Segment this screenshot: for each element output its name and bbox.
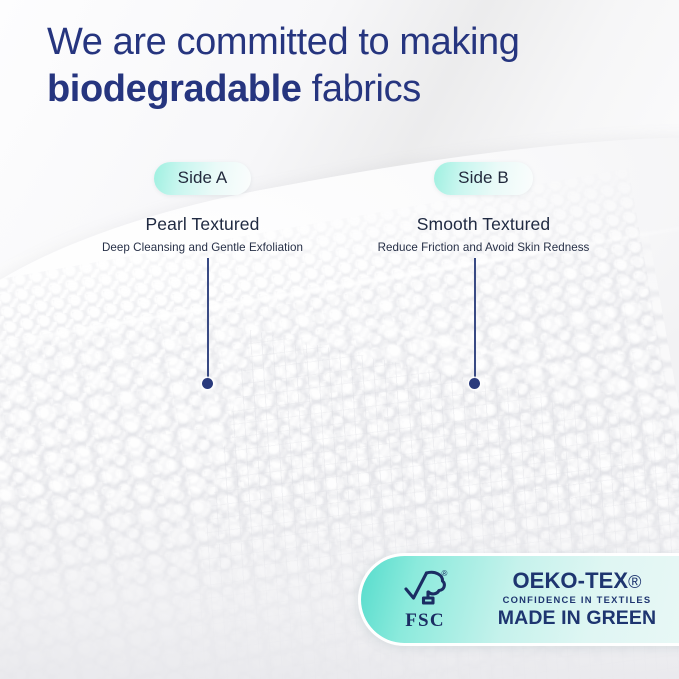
side-a-group: Side A Pearl Textured Deep Cleansing and… <box>61 162 344 254</box>
product-infographic: We are committed to making biodegradable… <box>0 0 679 679</box>
oeko-tex-program: MADE IN GREEN <box>459 607 679 630</box>
oeko-tex-block: OEKO-TEX® CONFIDENCE IN TEXTILES MADE IN… <box>459 569 679 630</box>
fsc-tree-checkmark-icon: ® <box>402 567 448 609</box>
side-a-leader-line <box>207 258 209 382</box>
page-title: We are committed to making biodegradable… <box>47 19 647 113</box>
side-a-callout-dot <box>202 378 213 389</box>
headline-line-2-rest: fabrics <box>302 68 421 110</box>
headline-emphasis: biodegradable <box>47 68 302 110</box>
oeko-tex-title-row: OEKO-TEX® <box>459 569 679 592</box>
headline-line-1: We are committed to making <box>47 19 647 66</box>
side-b-title: Smooth Textured <box>342 214 625 235</box>
side-a-title: Pearl Textured <box>61 214 344 235</box>
side-a-description: Deep Cleansing and Gentle Exfoliation <box>61 241 344 254</box>
headline-line-2: biodegradable fabrics <box>47 66 647 113</box>
oeko-tex-subtitle: CONFIDENCE IN TEXTILES <box>459 594 679 605</box>
fsc-label: FSC <box>391 610 459 632</box>
oeko-tex-registered-mark: ® <box>628 572 641 592</box>
side-b-group: Side B Smooth Textured Reduce Friction a… <box>342 162 625 254</box>
side-b-leader-line <box>474 258 476 382</box>
oeko-tex-title: OEKO-TEX <box>512 568 628 593</box>
fsc-logo: ® FSC <box>391 567 459 632</box>
side-b-callout-dot <box>469 378 480 389</box>
certification-badge: ® FSC OEKO-TEX® CONFIDENCE IN TEXTILES M… <box>358 553 679 646</box>
side-b-description: Reduce Friction and Avoid Skin Redness <box>342 241 625 254</box>
fsc-registered-mark: ® <box>442 569 448 578</box>
side-b-pill[interactable]: Side B <box>434 162 533 195</box>
side-a-pill[interactable]: Side A <box>154 162 252 195</box>
